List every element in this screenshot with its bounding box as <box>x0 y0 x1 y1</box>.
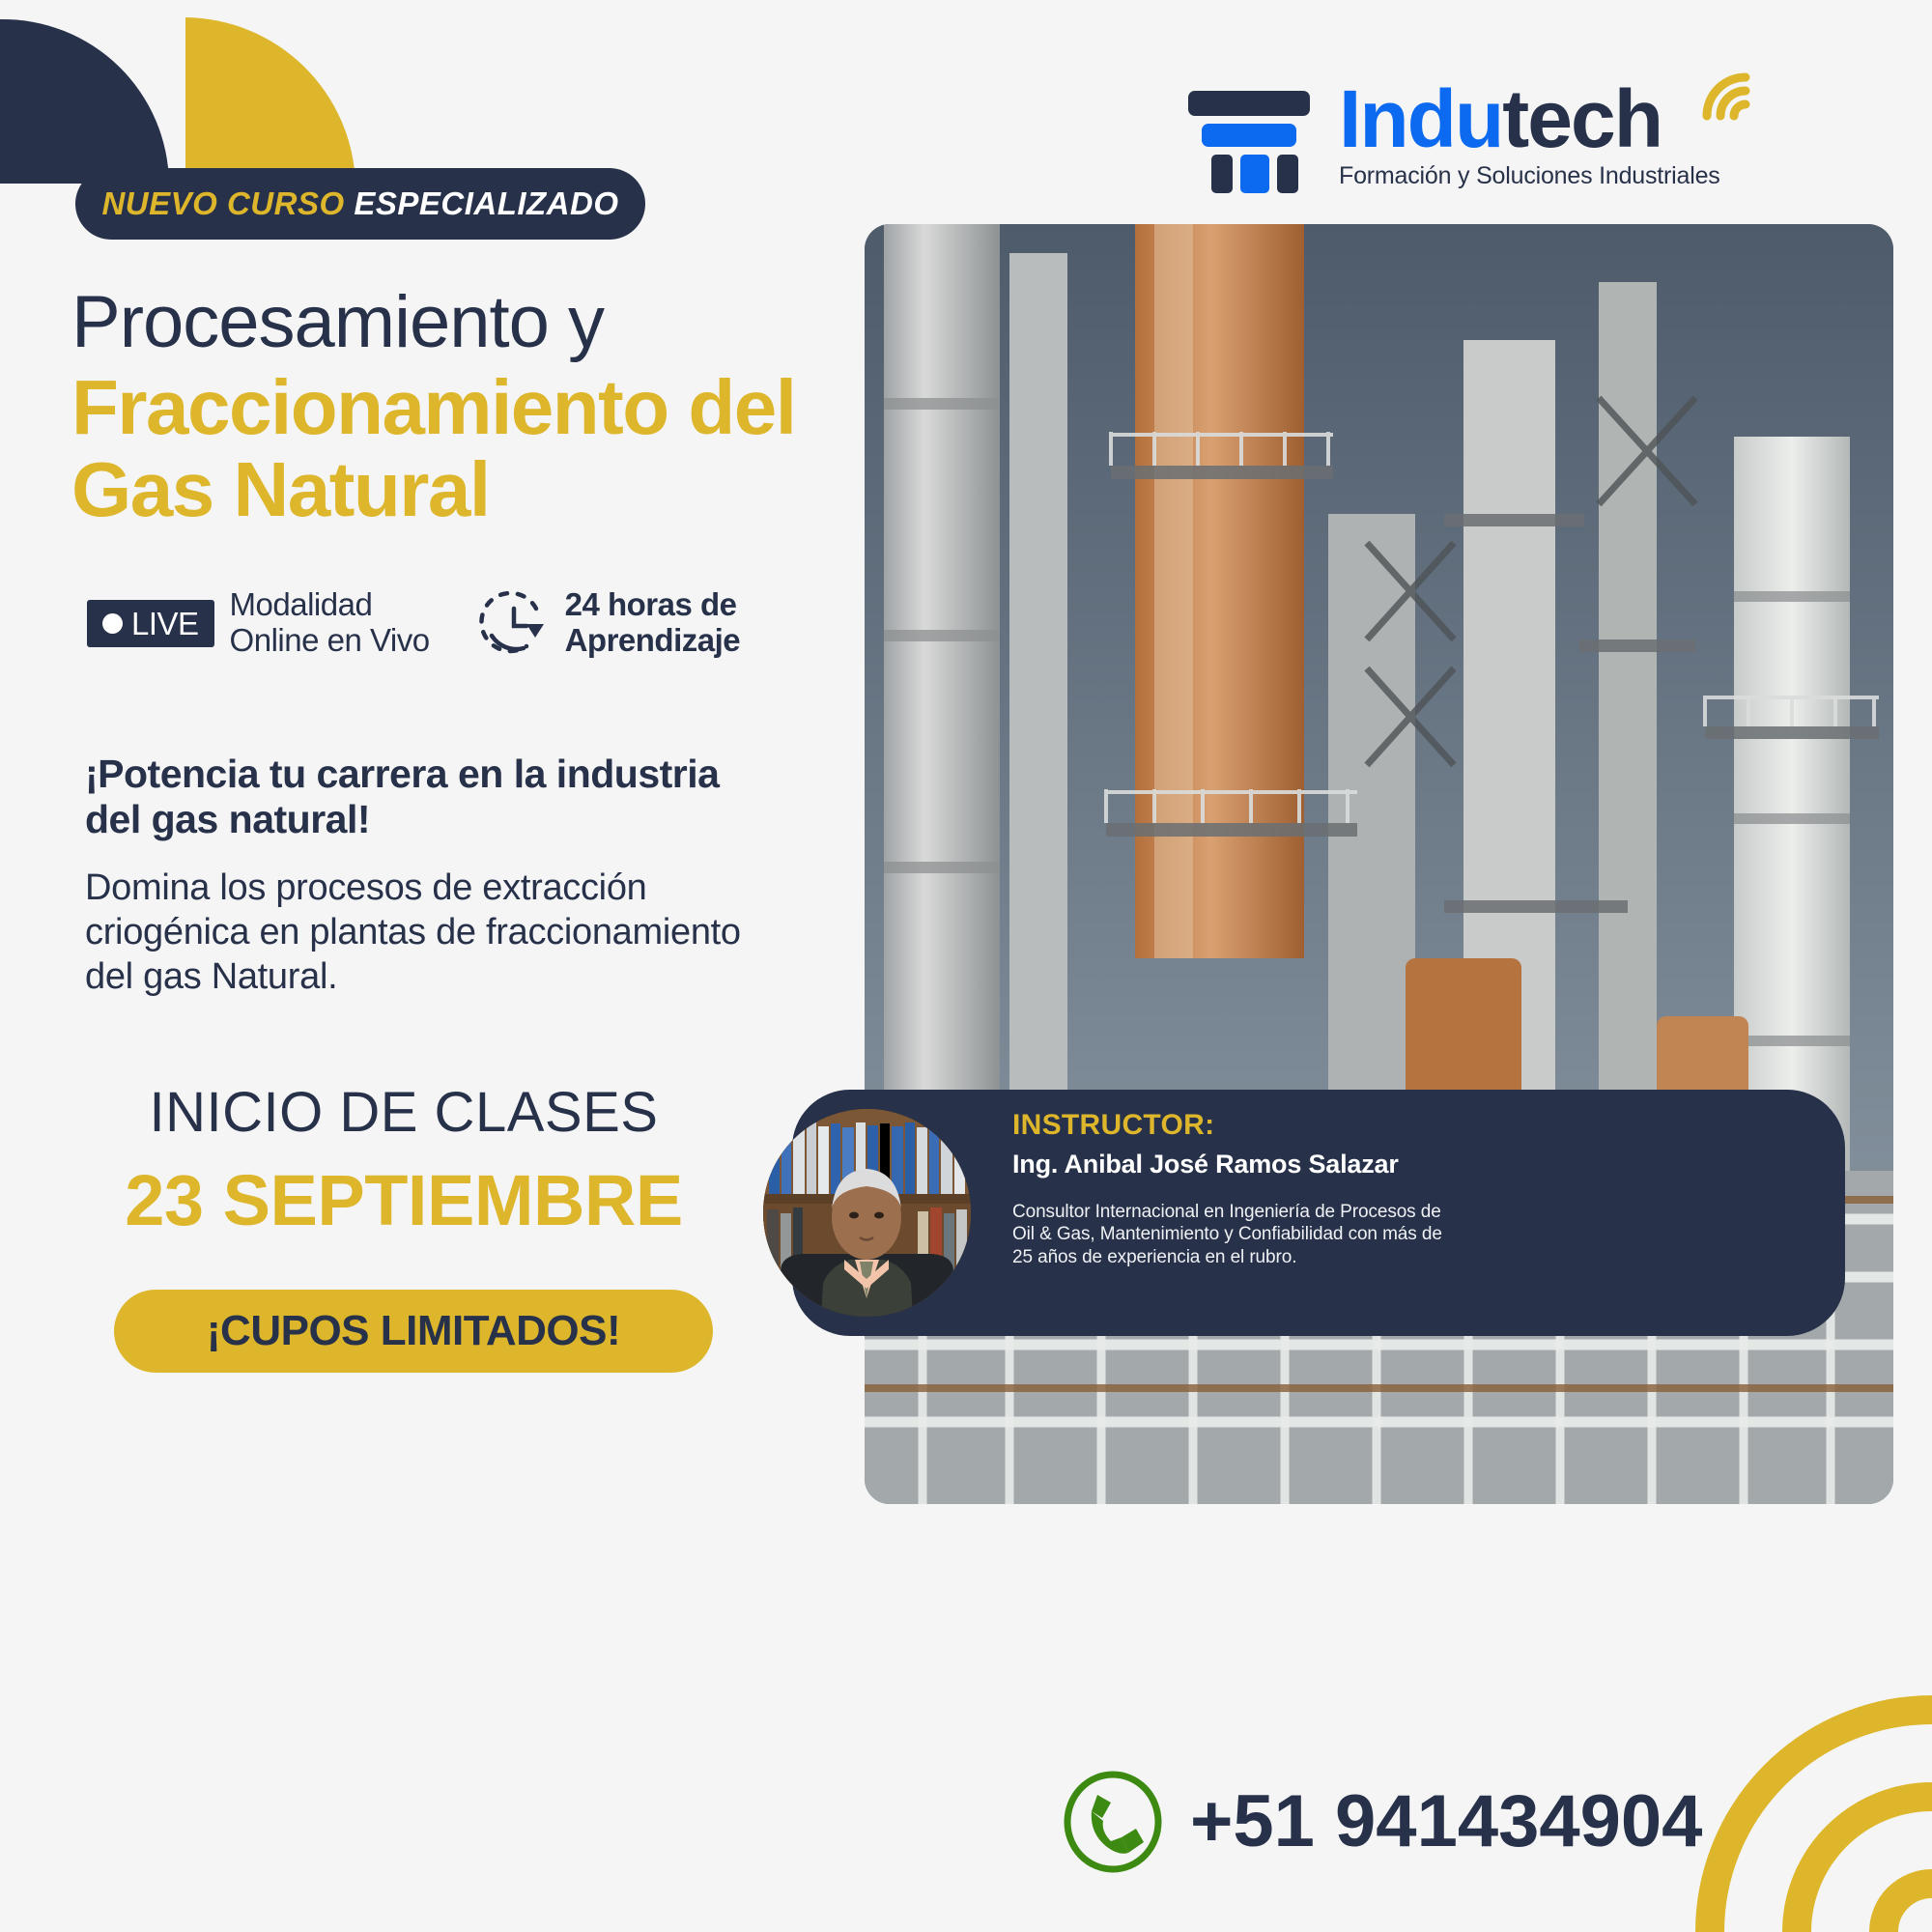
pillar-icon <box>1186 81 1312 189</box>
duration-line2: Aprendizaje <box>565 623 741 659</box>
clock-icon <box>478 587 550 659</box>
brand-name-part1: Indu <box>1339 73 1502 164</box>
modality-text: Modalidad Online en Vivo <box>230 587 430 659</box>
poster-root: Indutech Formación y Soluciones Industri… <box>0 0 1932 1932</box>
instructor-avatar <box>763 1109 971 1317</box>
corner-quarter-shapes-icon <box>0 0 386 188</box>
brand-name-part2: tech <box>1502 73 1662 164</box>
feature-duration: 24 horas de Aprendizaje <box>478 587 741 659</box>
pitch-copy: ¡Potencia tu carrera en la industria del… <box>85 752 752 999</box>
instructor-name: Ing. Anibal José Ramos Salazar <box>1012 1149 1466 1179</box>
phone-icon <box>1061 1770 1165 1874</box>
limited-seats-label: ¡CUPOS LIMITADOS! <box>207 1307 620 1355</box>
live-badge: LIVE <box>87 600 214 647</box>
live-label: LIVE <box>131 608 199 639</box>
wifi-arcs-icon <box>1697 56 1765 124</box>
instructor-portrait-image <box>763 1109 971 1317</box>
instructor-role-label: INSTRUCTOR: <box>1012 1109 1466 1143</box>
course-title-line2: Fraccionamiento del Gas Natural <box>71 367 806 531</box>
pitch-paragraph: Domina los procesos de extracción criogé… <box>85 867 752 999</box>
corner-arcs-decoration <box>1671 1681 1932 1932</box>
start-date-block: INICIO DE CLASES 23 SEPTIEMBRE <box>85 1082 723 1239</box>
brand-tagline: Formación y Soluciones Industriales <box>1339 162 1720 190</box>
course-features: LIVE Modalidad Online en Vivo 24 horas d… <box>87 587 740 659</box>
limited-seats-button[interactable]: ¡CUPOS LIMITADOS! <box>114 1290 713 1373</box>
modality-line2: Online en Vivo <box>230 623 430 659</box>
duration-text: 24 horas de Aprendizaje <box>565 587 741 659</box>
course-title: Procesamiento y Fraccionamiento del Gas … <box>71 286 806 531</box>
badge-highlight: NUEVO CURSO <box>101 185 344 221</box>
start-date-label: INICIO DE CLASES <box>85 1082 723 1144</box>
new-course-badge: NUEVO CURSO ESPECIALIZADO <box>75 168 645 240</box>
modality-line1: Modalidad <box>230 587 430 623</box>
decorative-corner-shapes <box>0 0 386 184</box>
pitch-heading: ¡Potencia tu carrera en la industria del… <box>85 752 752 841</box>
brand-wordmark: Indutech Formación y Soluciones Industri… <box>1339 81 1720 190</box>
instructor-details: INSTRUCTOR: Ing. Anibal José Ramos Salaz… <box>1012 1109 1466 1269</box>
contact-row[interactable]: +51 941434904 <box>1061 1770 1702 1874</box>
brand-logo: Indutech Formación y Soluciones Industri… <box>1186 81 1720 190</box>
instructor-bio: Consultor Internacional en Ingeniería de… <box>1012 1201 1466 1269</box>
duration-line1: 24 horas de <box>565 587 741 623</box>
start-date-value: 23 SEPTIEMBRE <box>85 1161 723 1239</box>
feature-modality: LIVE Modalidad Online en Vivo <box>87 587 430 659</box>
badge-rest: ESPECIALIZADO <box>354 185 618 221</box>
course-title-line1: Procesamiento y <box>71 286 806 359</box>
live-dot-icon <box>102 613 123 634</box>
phone-number: +51 941434904 <box>1190 1785 1702 1859</box>
